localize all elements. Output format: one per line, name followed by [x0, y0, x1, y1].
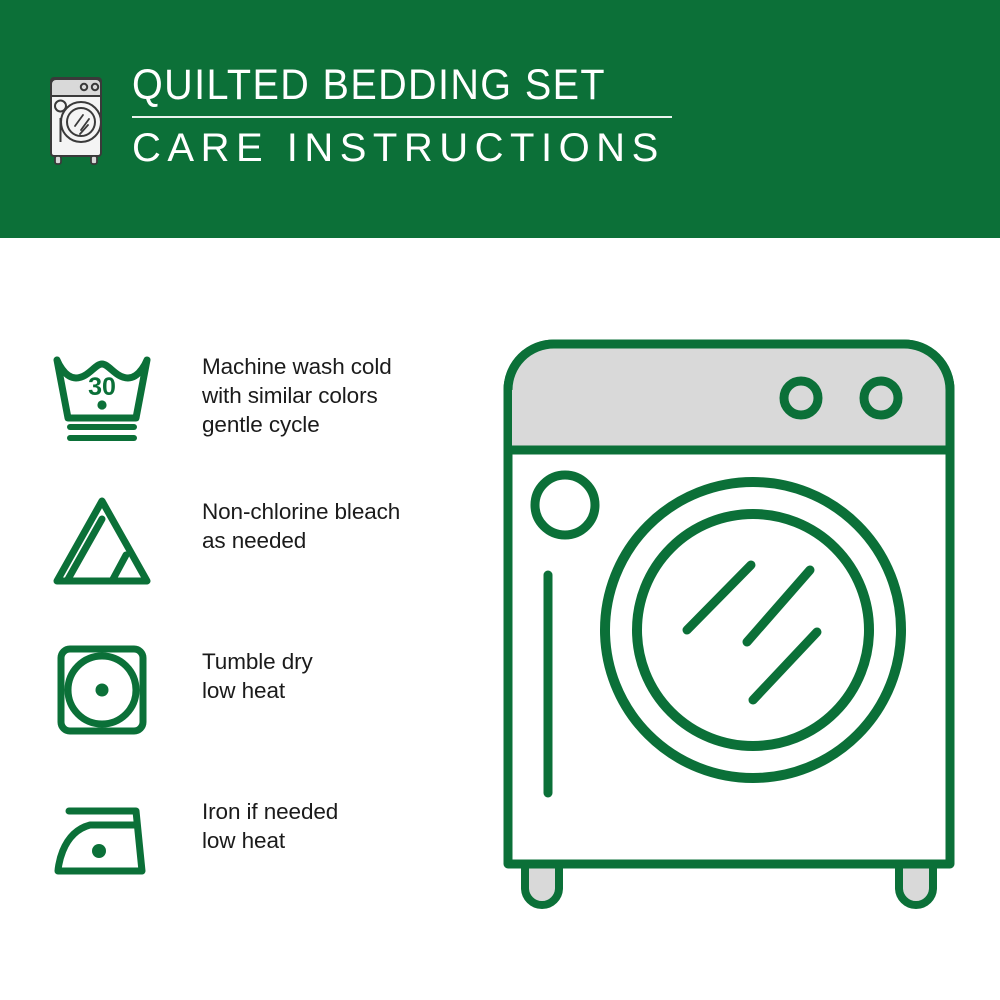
- care-line: gentle cycle: [202, 410, 392, 439]
- wash-temperature-label: 30: [88, 373, 116, 401]
- care-line: Machine wash cold: [202, 354, 392, 379]
- care-row-tumble-dry: Tumble dry low heat: [50, 643, 313, 739]
- control-panel: [512, 348, 946, 450]
- care-line: Iron if needed: [202, 799, 338, 824]
- tumble-dry-low-icon: [50, 643, 154, 739]
- title-divider: [132, 116, 672, 118]
- non-chlorine-bleach-triangle-icon: [50, 493, 154, 589]
- care-text-tumble-dry: Tumble dry low heat: [202, 643, 313, 705]
- iron-low-heat-icon: [50, 793, 154, 889]
- care-instructions-infographic: QUILTED BEDDING SET CARE INSTRUCTIONS 30: [0, 0, 1000, 1000]
- care-line: with similar colors: [202, 381, 392, 410]
- care-line: as needed: [202, 526, 400, 555]
- care-text-machine-wash: Machine wash cold with similar colors ge…: [202, 348, 392, 439]
- page-subtitle: CARE INSTRUCTIONS: [132, 127, 672, 169]
- washing-machine-icon: [44, 62, 114, 168]
- care-text-iron: Iron if needed low heat: [202, 793, 338, 855]
- care-row-machine-wash: 30 Machine wash cold with similar colors…: [50, 348, 392, 444]
- header-content: QUILTED BEDDING SET CARE INSTRUCTIONS: [44, 62, 672, 169]
- header-title-block: QUILTED BEDDING SET CARE INSTRUCTIONS: [132, 62, 672, 169]
- care-line: low heat: [202, 676, 313, 705]
- header-band: QUILTED BEDDING SET CARE INSTRUCTIONS: [0, 0, 1000, 238]
- care-line: Non-chlorine bleach: [202, 499, 400, 524]
- front-load-washing-machine-illustration: [495, 330, 975, 930]
- care-line: low heat: [202, 826, 338, 855]
- care-text-bleach: Non-chlorine bleach as needed: [202, 493, 400, 555]
- care-row-iron: Iron if needed low heat: [50, 793, 338, 889]
- care-line: Tumble dry: [202, 649, 313, 674]
- machine-wash-30-gentle-icon: 30: [50, 348, 154, 444]
- page-title: QUILTED BEDDING SET: [132, 62, 629, 108]
- care-row-bleach: Non-chlorine bleach as needed: [50, 493, 400, 589]
